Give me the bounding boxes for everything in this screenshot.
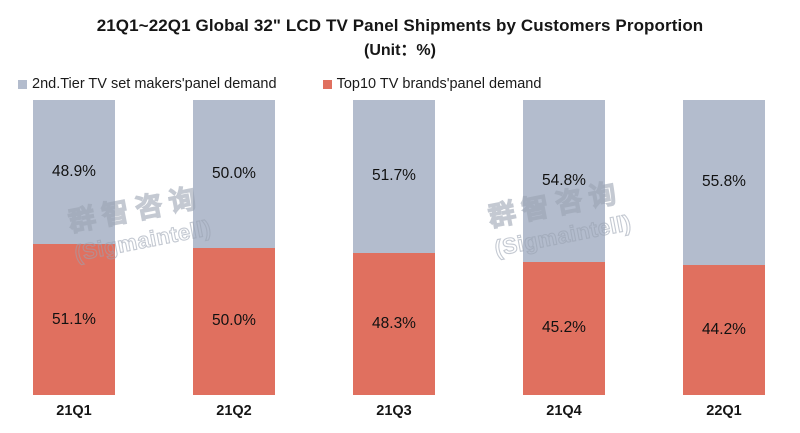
- bar-value-label: 54.8%: [542, 172, 586, 190]
- bar-segment-secondtier[interactable]: 55.8%: [683, 100, 765, 265]
- chart-container: 21Q1~22Q1 Global 32" LCD TV Panel Shipme…: [0, 0, 800, 433]
- bar-group-21q4: 54.8% 45.2%: [523, 100, 605, 395]
- bar-value-label: 51.1%: [52, 311, 96, 329]
- x-tick-21q2: 21Q2: [193, 403, 275, 419]
- bar-group-21q1: 48.9% 51.1%: [33, 100, 115, 395]
- bar-segment-secondtier[interactable]: 54.8%: [523, 100, 605, 262]
- x-tick-21q1: 21Q1: [33, 403, 115, 419]
- bar-value-label: 48.3%: [372, 315, 416, 333]
- bar-segment-top10[interactable]: 44.2%: [683, 265, 765, 395]
- bar-value-label: 50.0%: [212, 312, 256, 330]
- chart-legend: 2nd.Tier TV set makers'panel demand Top1…: [14, 73, 784, 95]
- legend-swatch-icon: [18, 80, 27, 89]
- bar-group-22q1: 55.8% 44.2%: [683, 100, 765, 395]
- chart-title: 21Q1~22Q1 Global 32" LCD TV Panel Shipme…: [0, 14, 800, 38]
- legend-item-secondtier[interactable]: 2nd.Tier TV set makers'panel demand: [18, 76, 277, 92]
- bar-segment-top10[interactable]: 48.3%: [353, 253, 435, 395]
- legend-label-secondtier: 2nd.Tier TV set makers'panel demand: [32, 76, 277, 92]
- bar-value-label: 55.8%: [702, 173, 746, 191]
- bar-segment-secondtier[interactable]: 48.9%: [33, 100, 115, 244]
- x-tick-22q1: 22Q1: [683, 403, 765, 419]
- bar-value-label: 48.9%: [52, 163, 96, 181]
- bar-segment-top10[interactable]: 50.0%: [193, 248, 275, 396]
- legend-item-top10[interactable]: Top10 TV brands'panel demand: [323, 76, 542, 92]
- bar-group-21q2: 50.0% 50.0%: [193, 100, 275, 395]
- bar-segment-secondtier[interactable]: 51.7%: [353, 100, 435, 253]
- x-axis: 21Q1 21Q2 21Q3 21Q4 22Q1: [0, 395, 800, 433]
- chart-subtitle: (Unit：%): [0, 38, 800, 64]
- x-tick-21q4: 21Q4: [523, 403, 605, 419]
- x-tick-21q3: 21Q3: [353, 403, 435, 419]
- bar-segment-top10[interactable]: 45.2%: [523, 262, 605, 395]
- bar-group-21q3: 51.7% 48.3%: [353, 100, 435, 395]
- plot-area: 48.9% 51.1% 50.0% 50.0% 51.7% 48.3%: [0, 100, 800, 395]
- bar-segment-secondtier[interactable]: 50.0%: [193, 100, 275, 248]
- bar-segment-top10[interactable]: 51.1%: [33, 244, 115, 395]
- legend-label-top10: Top10 TV brands'panel demand: [337, 76, 542, 92]
- title-block: 21Q1~22Q1 Global 32" LCD TV Panel Shipme…: [0, 14, 800, 64]
- bar-value-label: 44.2%: [702, 321, 746, 339]
- bar-value-label: 45.2%: [542, 319, 586, 337]
- legend-swatch-icon: [323, 80, 332, 89]
- bar-value-label: 51.7%: [372, 167, 416, 185]
- bar-value-label: 50.0%: [212, 165, 256, 183]
